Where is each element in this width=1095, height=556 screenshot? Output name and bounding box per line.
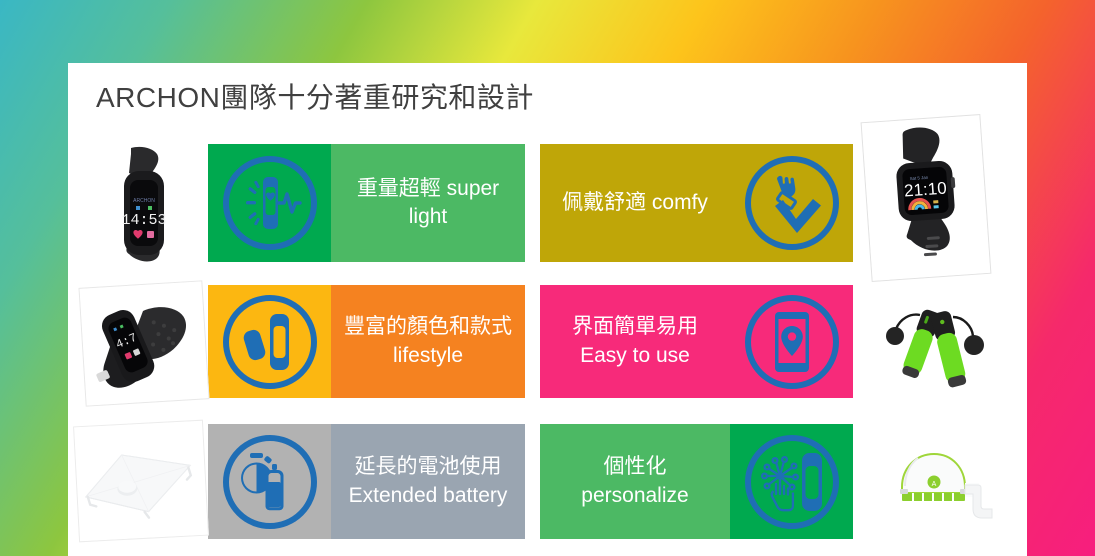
card-label-en: Easy to use (580, 342, 690, 370)
page-title: ARCHON團隊十分著重研究和設計 (96, 76, 534, 116)
stopwatch-bottle-icon (234, 446, 306, 518)
icon-box-extended-battery (208, 424, 331, 539)
text-box-easy-to-use: 界面簡單易用 Easy to use (540, 285, 730, 398)
card-label-cn: 延長的電池使用 (355, 453, 502, 481)
watch-art: Sat 5 Jan 21:10 (862, 115, 991, 281)
feature-card-extended-battery[interactable]: 延長的電池使用 Extended battery (208, 424, 525, 539)
icon-box-easy-to-use (730, 285, 853, 398)
feature-card-easy-to-use[interactable]: 界面簡單易用 Easy to use (540, 285, 853, 398)
text-box-comfy: 佩戴舒適 comfy (540, 144, 730, 262)
card-label-cn: 界面簡單易用 (572, 313, 698, 341)
text-box-super-light: 重量超輕 super light (331, 144, 525, 262)
icon-box-lifestyle (208, 285, 331, 398)
archon-measuring-tape-photo: A Archon (876, 427, 1000, 537)
green-jump-rope-photo (876, 285, 993, 402)
card-label-en: Extended battery (349, 482, 508, 510)
svg-text:21:10: 21:10 (904, 179, 948, 201)
jump-rope-art (876, 285, 993, 402)
feature-card-lifestyle[interactable]: 豐富的顏色和款式 lifestyle (208, 285, 525, 398)
icon-box-comfy (730, 144, 853, 262)
black-fitness-band-photo: ARCHON 14:53 (95, 142, 200, 280)
band-mesh-art: 4:7 (80, 281, 209, 405)
icon-box-super-light (208, 144, 331, 262)
tape-art: A Archon (876, 427, 1000, 537)
card-label-cn: 重量超輕 super (357, 175, 499, 203)
white-smart-scale-photo (73, 420, 209, 543)
card-label-cn: 佩戴舒適 comfy (562, 189, 708, 217)
feature-card-comfy[interactable]: 佩戴舒適 comfy (540, 144, 853, 262)
feature-card-super-light[interactable]: 重量超輕 super light (208, 144, 525, 262)
text-box-personalize: 個性化 personalize (540, 424, 730, 539)
card-label-cn: 豐富的顏色和款式 (344, 313, 512, 341)
text-box-lifestyle: 豐富的顏色和款式 lifestyle (331, 285, 525, 398)
card-label-en: lifestyle (393, 342, 463, 370)
slide-root: ARCHON團隊十分著重研究和設計 (0, 0, 1095, 556)
mesh-strap-fitness-band-photo: 4:7 (78, 280, 209, 406)
icon-box-personalize (730, 424, 853, 539)
card-label-en: personalize (581, 482, 688, 510)
phone-location-pin-icon (756, 306, 828, 378)
hand-check-band-icon (756, 167, 828, 239)
svg-text:A: A (932, 481, 937, 488)
hand-network-band-icon (756, 446, 828, 518)
two-bands-icon (234, 306, 306, 378)
svg-text:14:53: 14:53 (121, 212, 166, 229)
card-label-cn: 個性化 (604, 453, 667, 481)
card-label-en: light (409, 203, 448, 231)
feature-card-personalize[interactable]: 個性化 personalize (540, 424, 853, 539)
scale-art (74, 421, 208, 542)
band-black-art: ARCHON 14:53 (95, 142, 200, 280)
svg-text:ARCHON: ARCHON (133, 198, 155, 204)
text-box-extended-battery: 延長的電池使用 Extended battery (331, 424, 525, 539)
fitness-band-heartbeat-icon (234, 167, 306, 239)
black-smartwatch-photo: Sat 5 Jan 21:10 (861, 114, 992, 282)
